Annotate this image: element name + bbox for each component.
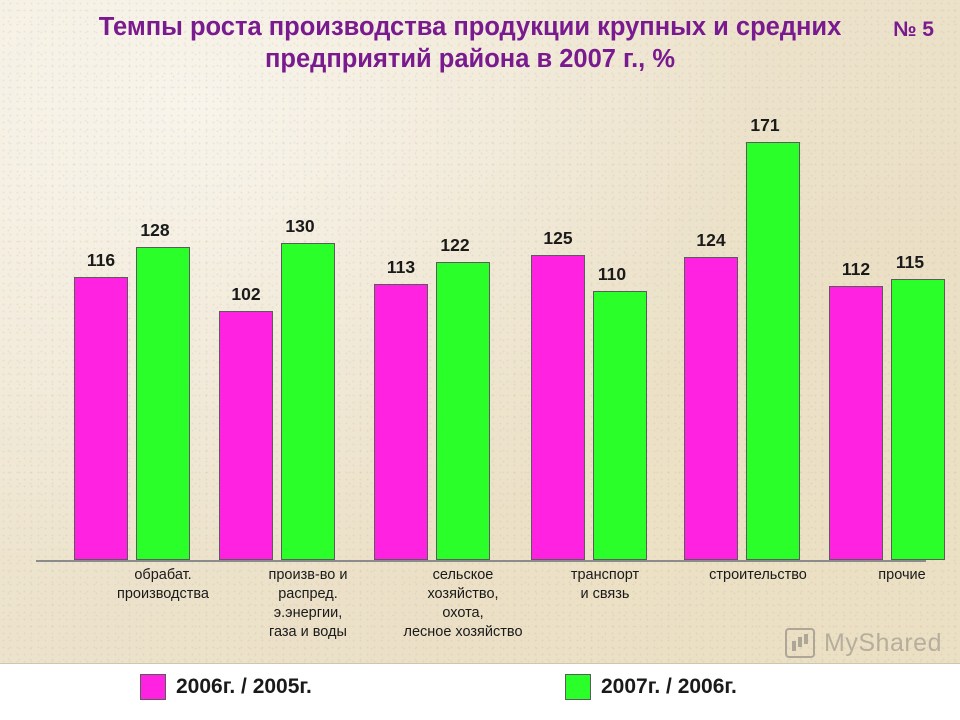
page-title: Темпы роста производства продукции крупн… — [40, 12, 900, 76]
legend-label-series-1: 2006г. / 2005г. — [176, 675, 312, 699]
legend-item-series-2: 2007г. / 2006г. — [565, 674, 737, 700]
bar-series-2 — [593, 291, 647, 560]
bar-group: 124171 — [676, 96, 808, 560]
bar-value-label: 115 — [875, 252, 945, 273]
bar-value-label: 171 — [730, 115, 800, 136]
watermark: MyShared — [785, 628, 942, 658]
bar-value-label: 102 — [211, 284, 281, 305]
bar-series-2 — [136, 247, 190, 560]
bar-series-1 — [684, 257, 738, 560]
bar-value-label: 113 — [366, 257, 436, 278]
slide-number-badge: № 5 — [893, 18, 934, 42]
category-label: строительство — [673, 566, 843, 585]
bar-group: 102130 — [211, 96, 343, 560]
bar-series-2 — [436, 262, 490, 560]
bar-series-2 — [281, 243, 335, 560]
legend-item-series-1: 2006г. / 2005г. — [140, 674, 312, 700]
bar-series-2 — [891, 279, 945, 560]
bar-series-1 — [219, 311, 273, 560]
bar-chart-plot-area: 116128102130113122125110124171112115 — [36, 96, 926, 562]
bar-group: 125110 — [523, 96, 655, 560]
category-label: произв-во и распред. э.энергии, газа и в… — [228, 566, 388, 643]
bar-group: 116128 — [66, 96, 198, 560]
bar-value-label: 122 — [420, 235, 490, 256]
legend-label-series-2: 2007г. / 2006г. — [601, 675, 737, 699]
bar-value-label: 130 — [265, 216, 335, 237]
bar-series-1 — [531, 255, 585, 560]
bar-series-1 — [829, 286, 883, 560]
x-axis-line — [36, 560, 926, 562]
bar-series-2 — [746, 142, 800, 560]
slide-canvas: Темпы роста производства продукции крупн… — [0, 0, 960, 720]
legend-swatch-series-2 — [565, 674, 591, 700]
category-label: транспорт и связь — [535, 566, 675, 604]
bar-group: 112115 — [821, 96, 953, 560]
chart-legend: 2006г. / 2005г. 2007г. / 2006г. — [0, 663, 960, 720]
legend-swatch-series-1 — [140, 674, 166, 700]
category-label: прочие — [837, 566, 960, 585]
category-label: сельское хозяйство, охота, лесное хозяйс… — [368, 566, 558, 643]
bar-value-label: 124 — [676, 230, 746, 251]
watermark-label: MyShared — [824, 629, 942, 658]
bar-series-1 — [374, 284, 428, 560]
bar-value-label: 125 — [523, 228, 593, 249]
bar-group: 113122 — [366, 96, 498, 560]
presentation-icon — [785, 628, 815, 658]
bar-value-label: 110 — [577, 264, 647, 285]
category-label: обрабат. производства — [83, 566, 243, 604]
bar-series-1 — [74, 277, 128, 560]
bar-value-label: 116 — [66, 250, 136, 271]
bar-value-label: 128 — [120, 220, 190, 241]
